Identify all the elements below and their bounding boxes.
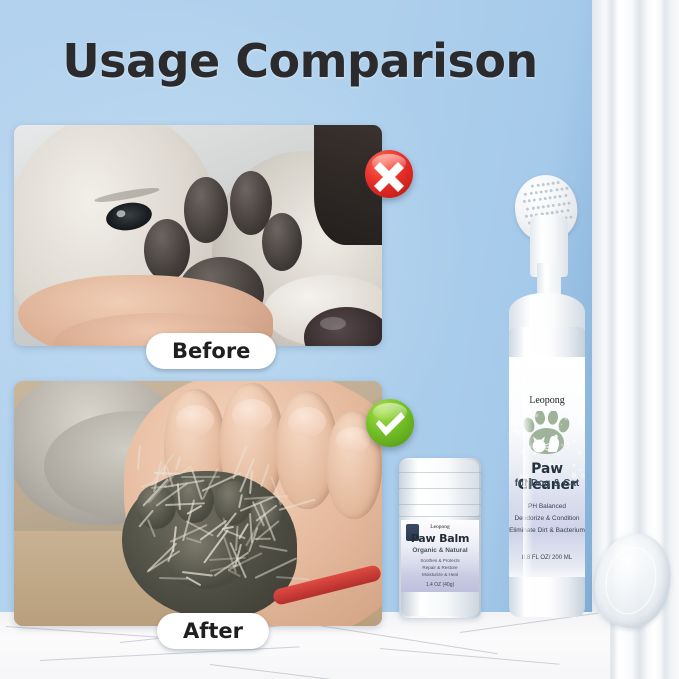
label-speckle: [535, 414, 538, 417]
brush-bristle: [557, 181, 560, 184]
label-speckle: [517, 368, 520, 371]
brush-bristle: [559, 195, 562, 198]
brush-bristle: [538, 198, 541, 201]
label-speckle: [578, 452, 580, 454]
balm-product-name: Paw Balm: [401, 532, 479, 545]
brush-bristle: [557, 203, 560, 206]
paw-pad: [262, 213, 302, 271]
paw-hair-strand: [147, 542, 177, 571]
brush-bristle: [547, 204, 550, 207]
brush-bristle: [533, 199, 536, 202]
brush-bristle: [542, 205, 545, 208]
before-photo: [14, 125, 382, 346]
bottle-highlight: [523, 327, 533, 617]
close-icon: [365, 150, 413, 198]
balm-ring: [399, 488, 481, 489]
label-speckle: [572, 473, 576, 477]
brush-bristle: [524, 193, 527, 196]
brush-bristle: [554, 196, 557, 199]
brush-bristle: [541, 183, 544, 186]
paw-hair-strand: [147, 519, 156, 537]
label-speckle: [561, 444, 563, 446]
brush-bristle: [523, 200, 526, 203]
fingernail: [336, 427, 370, 453]
label-speckle: [515, 430, 517, 432]
paw-cleaner-bottle: Leopong Paw Cleaner for Dog & Cat PH: [497, 175, 605, 635]
paw-balm-stick: Leopong Paw Balm Organic & Natural Sooth…: [399, 458, 481, 618]
paw-pad: [144, 219, 190, 281]
balm-feature: Moisturize & Heal: [401, 572, 479, 577]
after-label-pill: After: [157, 613, 269, 649]
paw-hair-strand: [191, 469, 203, 501]
balm-label: Leopong Paw Balm Organic & Natural Sooth…: [401, 520, 479, 592]
check-icon: [366, 399, 414, 447]
paw-pad: [184, 177, 228, 243]
label-speckle: [576, 391, 580, 395]
brush-bristle: [545, 190, 548, 193]
brush-bristle: [548, 197, 551, 200]
label-speckle: [561, 424, 563, 426]
label-speckle: [553, 381, 556, 384]
brush-bristle: [562, 202, 565, 205]
fingernail: [176, 405, 214, 435]
bottle-subtitle: for Dog & Cat: [509, 478, 585, 489]
brush-bristle: [528, 199, 531, 202]
balm-ring: [399, 504, 481, 505]
product-comparison-image: Usage Comparison Before: [0, 0, 679, 679]
brush-bristle: [546, 182, 549, 185]
fingernail: [288, 407, 326, 437]
marble-vein: [210, 664, 409, 679]
brush-bristle: [550, 189, 553, 192]
brush-bristle: [552, 182, 555, 185]
balm-subtitle: Organic & Natural: [401, 547, 479, 554]
paw-hair-strand: [249, 470, 253, 494]
label-speckle: [563, 408, 565, 410]
page-title: Usage Comparison: [0, 34, 600, 88]
brush-bristle: [564, 194, 567, 197]
label-speckle: [554, 424, 558, 428]
brush-bristle: [567, 201, 570, 204]
dog-nose-highlight: [320, 317, 346, 330]
label-speckle: [562, 370, 566, 374]
label-speckle: [565, 417, 567, 419]
balm-ring: [399, 472, 481, 473]
brush-bristle: [561, 209, 564, 212]
brush-bristle: [552, 203, 555, 206]
paw-hair-strand: [175, 456, 181, 470]
bottle-volume: 8.8 FL OZ/ 200 ML: [509, 555, 585, 561]
brush-bristle: [536, 205, 539, 208]
label-speckle: [546, 408, 548, 410]
paw-hair-strand: [186, 576, 202, 586]
bottle-body: Leopong Paw Cleaner for Dog & Cat PH: [509, 327, 585, 617]
label-speckle: [573, 464, 575, 466]
label-speckle: [574, 384, 577, 387]
paw-hair-strand: [187, 505, 203, 515]
brush-bristle: [526, 207, 529, 210]
before-label-pill: Before: [146, 333, 276, 369]
paw-hair: [114, 459, 304, 609]
label-speckle: [563, 391, 566, 394]
label-speckle: [573, 440, 575, 442]
paw-hair-strand: [259, 545, 288, 552]
brush-bristle: [560, 188, 563, 191]
brush-bristle: [531, 206, 534, 209]
paw-hair-strand: [260, 464, 270, 488]
label-speckle: [533, 452, 535, 454]
bottle-feature: Eliminate Dirt & Bacterium: [509, 527, 585, 534]
brush-bristle: [536, 184, 539, 187]
label-speckle: [533, 392, 535, 394]
brush-bristle: [569, 215, 572, 218]
brush-bristle: [531, 184, 534, 187]
paw-hair-strand: [245, 513, 266, 547]
balm-base: [401, 592, 479, 616]
brush-bristle: [543, 197, 546, 200]
balm-feature: Repair & Restore: [401, 565, 479, 570]
balm-volume: 1.4 OZ (40g): [401, 582, 479, 588]
fingernail: [232, 399, 272, 431]
brush-bristle: [540, 191, 543, 194]
bottle-feature: Deodorize & Condition: [509, 515, 585, 522]
brush-bristle: [534, 191, 537, 194]
label-speckle: [549, 463, 552, 466]
label-speckle: [581, 474, 585, 478]
marble-vein: [40, 646, 300, 661]
brush-bristle: [565, 187, 568, 190]
brush-bristle: [566, 209, 569, 212]
bottle-label: Leopong Paw Cleaner for Dog & Cat PH: [509, 357, 585, 577]
brush-bristle: [529, 192, 532, 195]
paw-hair-strand: [270, 476, 282, 505]
balm-brand: Leopong: [401, 524, 479, 530]
balm-feature: Soothes & Protects: [401, 558, 479, 563]
label-speckle: [516, 418, 520, 422]
check-mark-badge: [366, 399, 414, 447]
brush-bristle: [555, 188, 558, 191]
brush-bristle: [556, 210, 559, 213]
label-speckle: [547, 411, 549, 413]
paw-hair-strand: [159, 577, 188, 580]
label-speckle: [575, 415, 578, 418]
after-photo: [14, 381, 382, 626]
label-speckle: [558, 464, 560, 466]
brush-bristle: [525, 214, 528, 217]
paw-hair-strand: [147, 475, 173, 503]
paw-hair-strand: [238, 494, 243, 508]
balm-ring: [399, 516, 481, 517]
brush-bristle: [550, 211, 553, 214]
x-mark-badge: [365, 150, 413, 198]
bottle-feature: PH Balanced: [509, 503, 585, 510]
marble-vein: [380, 648, 559, 665]
